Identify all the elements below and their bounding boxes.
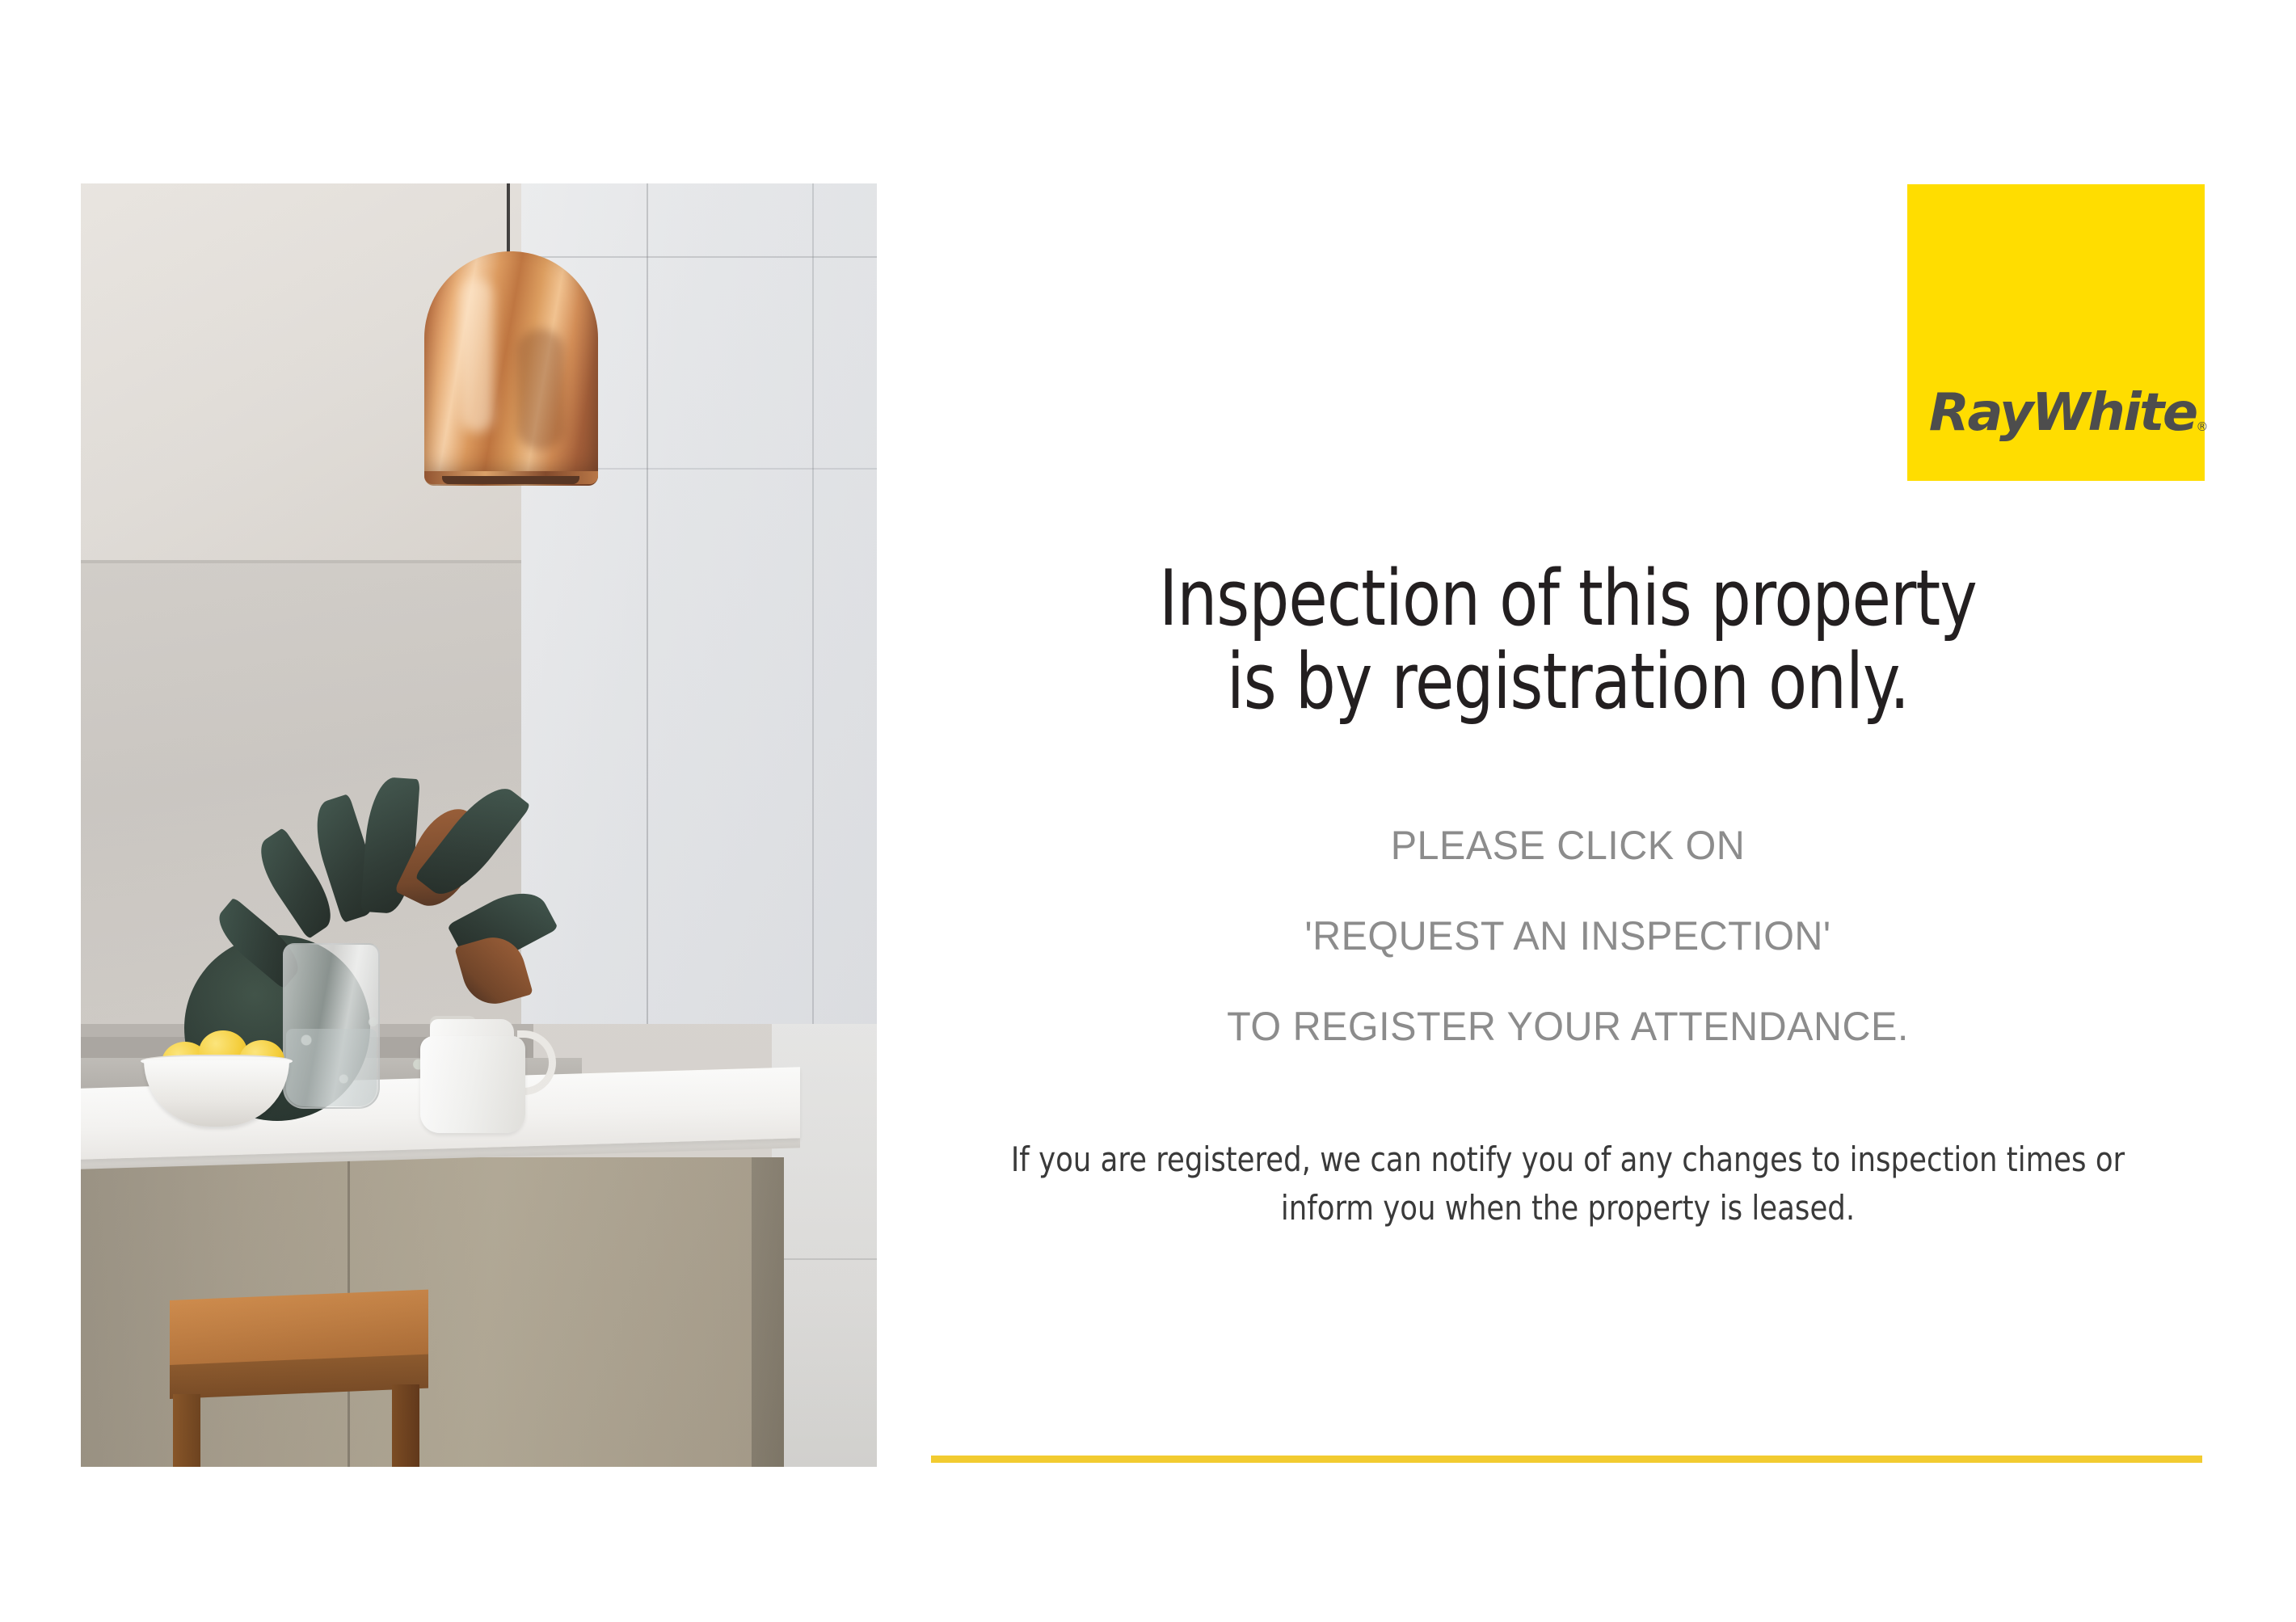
kitchen-interior-photo bbox=[81, 183, 877, 1467]
instruction-line-1: PLEASE CLICK ON bbox=[950, 825, 2186, 866]
lamp-highlight bbox=[461, 279, 493, 432]
registered-trademark-icon: ® bbox=[2196, 419, 2208, 434]
instruction-line-3: TO REGISTER YOUR ATTENDANCE. bbox=[950, 1006, 2186, 1047]
headline-line-2: is by registration only. bbox=[982, 641, 2154, 724]
instruction-block: PLEASE CLICK ON 'REQUEST AN INSPECTION' … bbox=[931, 825, 2205, 1047]
lamp-interior bbox=[442, 476, 579, 484]
timber-stool-leg bbox=[173, 1394, 200, 1467]
logo-wordmark: RayWhite bbox=[1929, 387, 2197, 439]
timber-stool-leg bbox=[392, 1384, 419, 1467]
ray-white-logo: RayWhite ® bbox=[1907, 184, 2205, 481]
body-text: If you are registered, we can notify you… bbox=[931, 1135, 2205, 1232]
vase-water bbox=[286, 1029, 377, 1106]
cabinet-seam bbox=[647, 183, 648, 1024]
body-line-2: inform you when the property is leased. bbox=[969, 1184, 2166, 1232]
message-column: Inspection of this property is by regist… bbox=[931, 558, 2205, 1232]
body-line-1: If you are registered, we can notify you… bbox=[969, 1135, 2166, 1184]
page-title: Inspection of this property is by regist… bbox=[982, 558, 2154, 723]
poster-page: RayWhite ® Inspection of this property i… bbox=[0, 0, 2296, 1622]
pendant-cord bbox=[507, 183, 510, 253]
floor-tile-seam bbox=[772, 1258, 877, 1260]
lamp-reflection bbox=[517, 329, 564, 450]
cabinet-seam bbox=[521, 256, 877, 258]
island-side-panel bbox=[752, 1157, 784, 1467]
white-ceramic-jug bbox=[420, 1036, 525, 1133]
headline-line-1: Inspection of this property bbox=[1159, 554, 1977, 643]
logo-lockup: RayWhite ® bbox=[1907, 387, 2208, 481]
yellow-divider-rule bbox=[931, 1456, 2202, 1463]
cabinet-seam bbox=[812, 183, 814, 1024]
copper-pendant-lamp bbox=[424, 251, 598, 486]
instruction-line-2: 'REQUEST AN INSPECTION' bbox=[950, 916, 2186, 956]
